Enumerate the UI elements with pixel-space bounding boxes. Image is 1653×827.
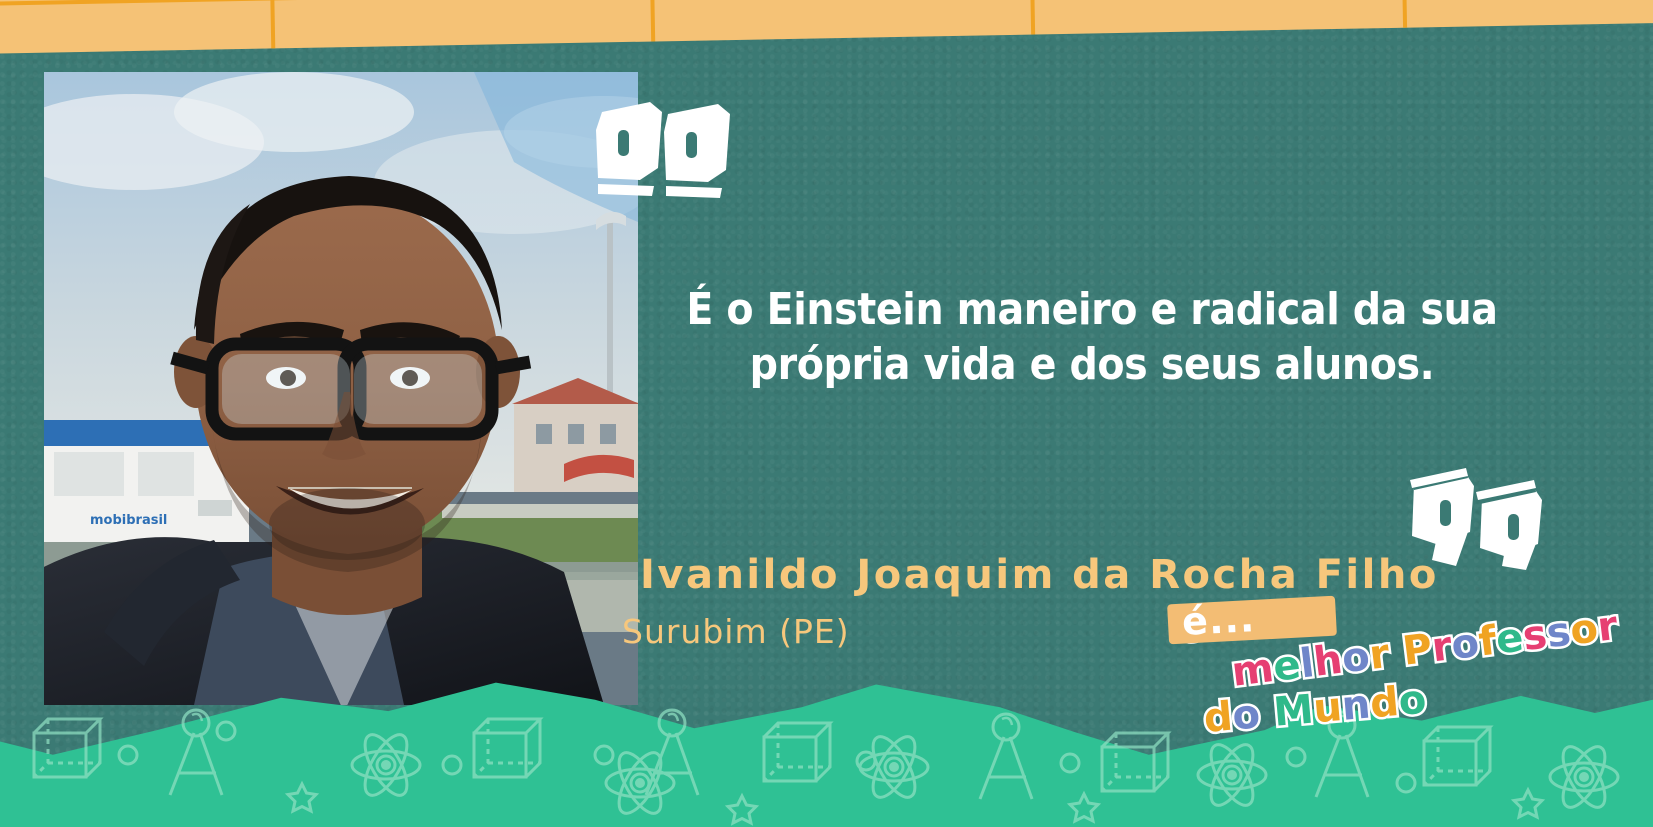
logo-letter: n bbox=[1340, 682, 1372, 730]
logo-letter: m bbox=[1229, 645, 1276, 696]
svg-text:mobibrasil: mobibrasil bbox=[90, 513, 167, 528]
logo-letter: r bbox=[1595, 603, 1620, 651]
logo-letter: M bbox=[1272, 687, 1316, 736]
logo-line-4: é... bbox=[1168, 600, 1338, 642]
brand-logo: O melhor Professor é... do Mundo bbox=[1168, 600, 1648, 760]
author-city: Surubim (PE) bbox=[622, 612, 850, 651]
logo-letter: d bbox=[1202, 694, 1235, 742]
author-name: Ivanildo Joaquim da Rocha Filho bbox=[640, 552, 1439, 598]
photo-illustration: mobibrasil bbox=[44, 72, 638, 705]
logo-letter: u bbox=[1311, 684, 1343, 732]
quote-card: mobibrasil bbox=[0, 0, 1653, 827]
logo-letter: d bbox=[1368, 679, 1401, 727]
logo-letter: o bbox=[1231, 691, 1262, 739]
logo-ellipsis-text: é... bbox=[1181, 596, 1256, 644]
logo-letter: o bbox=[1397, 677, 1428, 725]
quote-text: É o Einstein maneiro e radical da sua pr… bbox=[612, 282, 1572, 392]
opening-quote-icon bbox=[592, 96, 732, 200]
teacher-photo: mobibrasil bbox=[44, 72, 638, 705]
